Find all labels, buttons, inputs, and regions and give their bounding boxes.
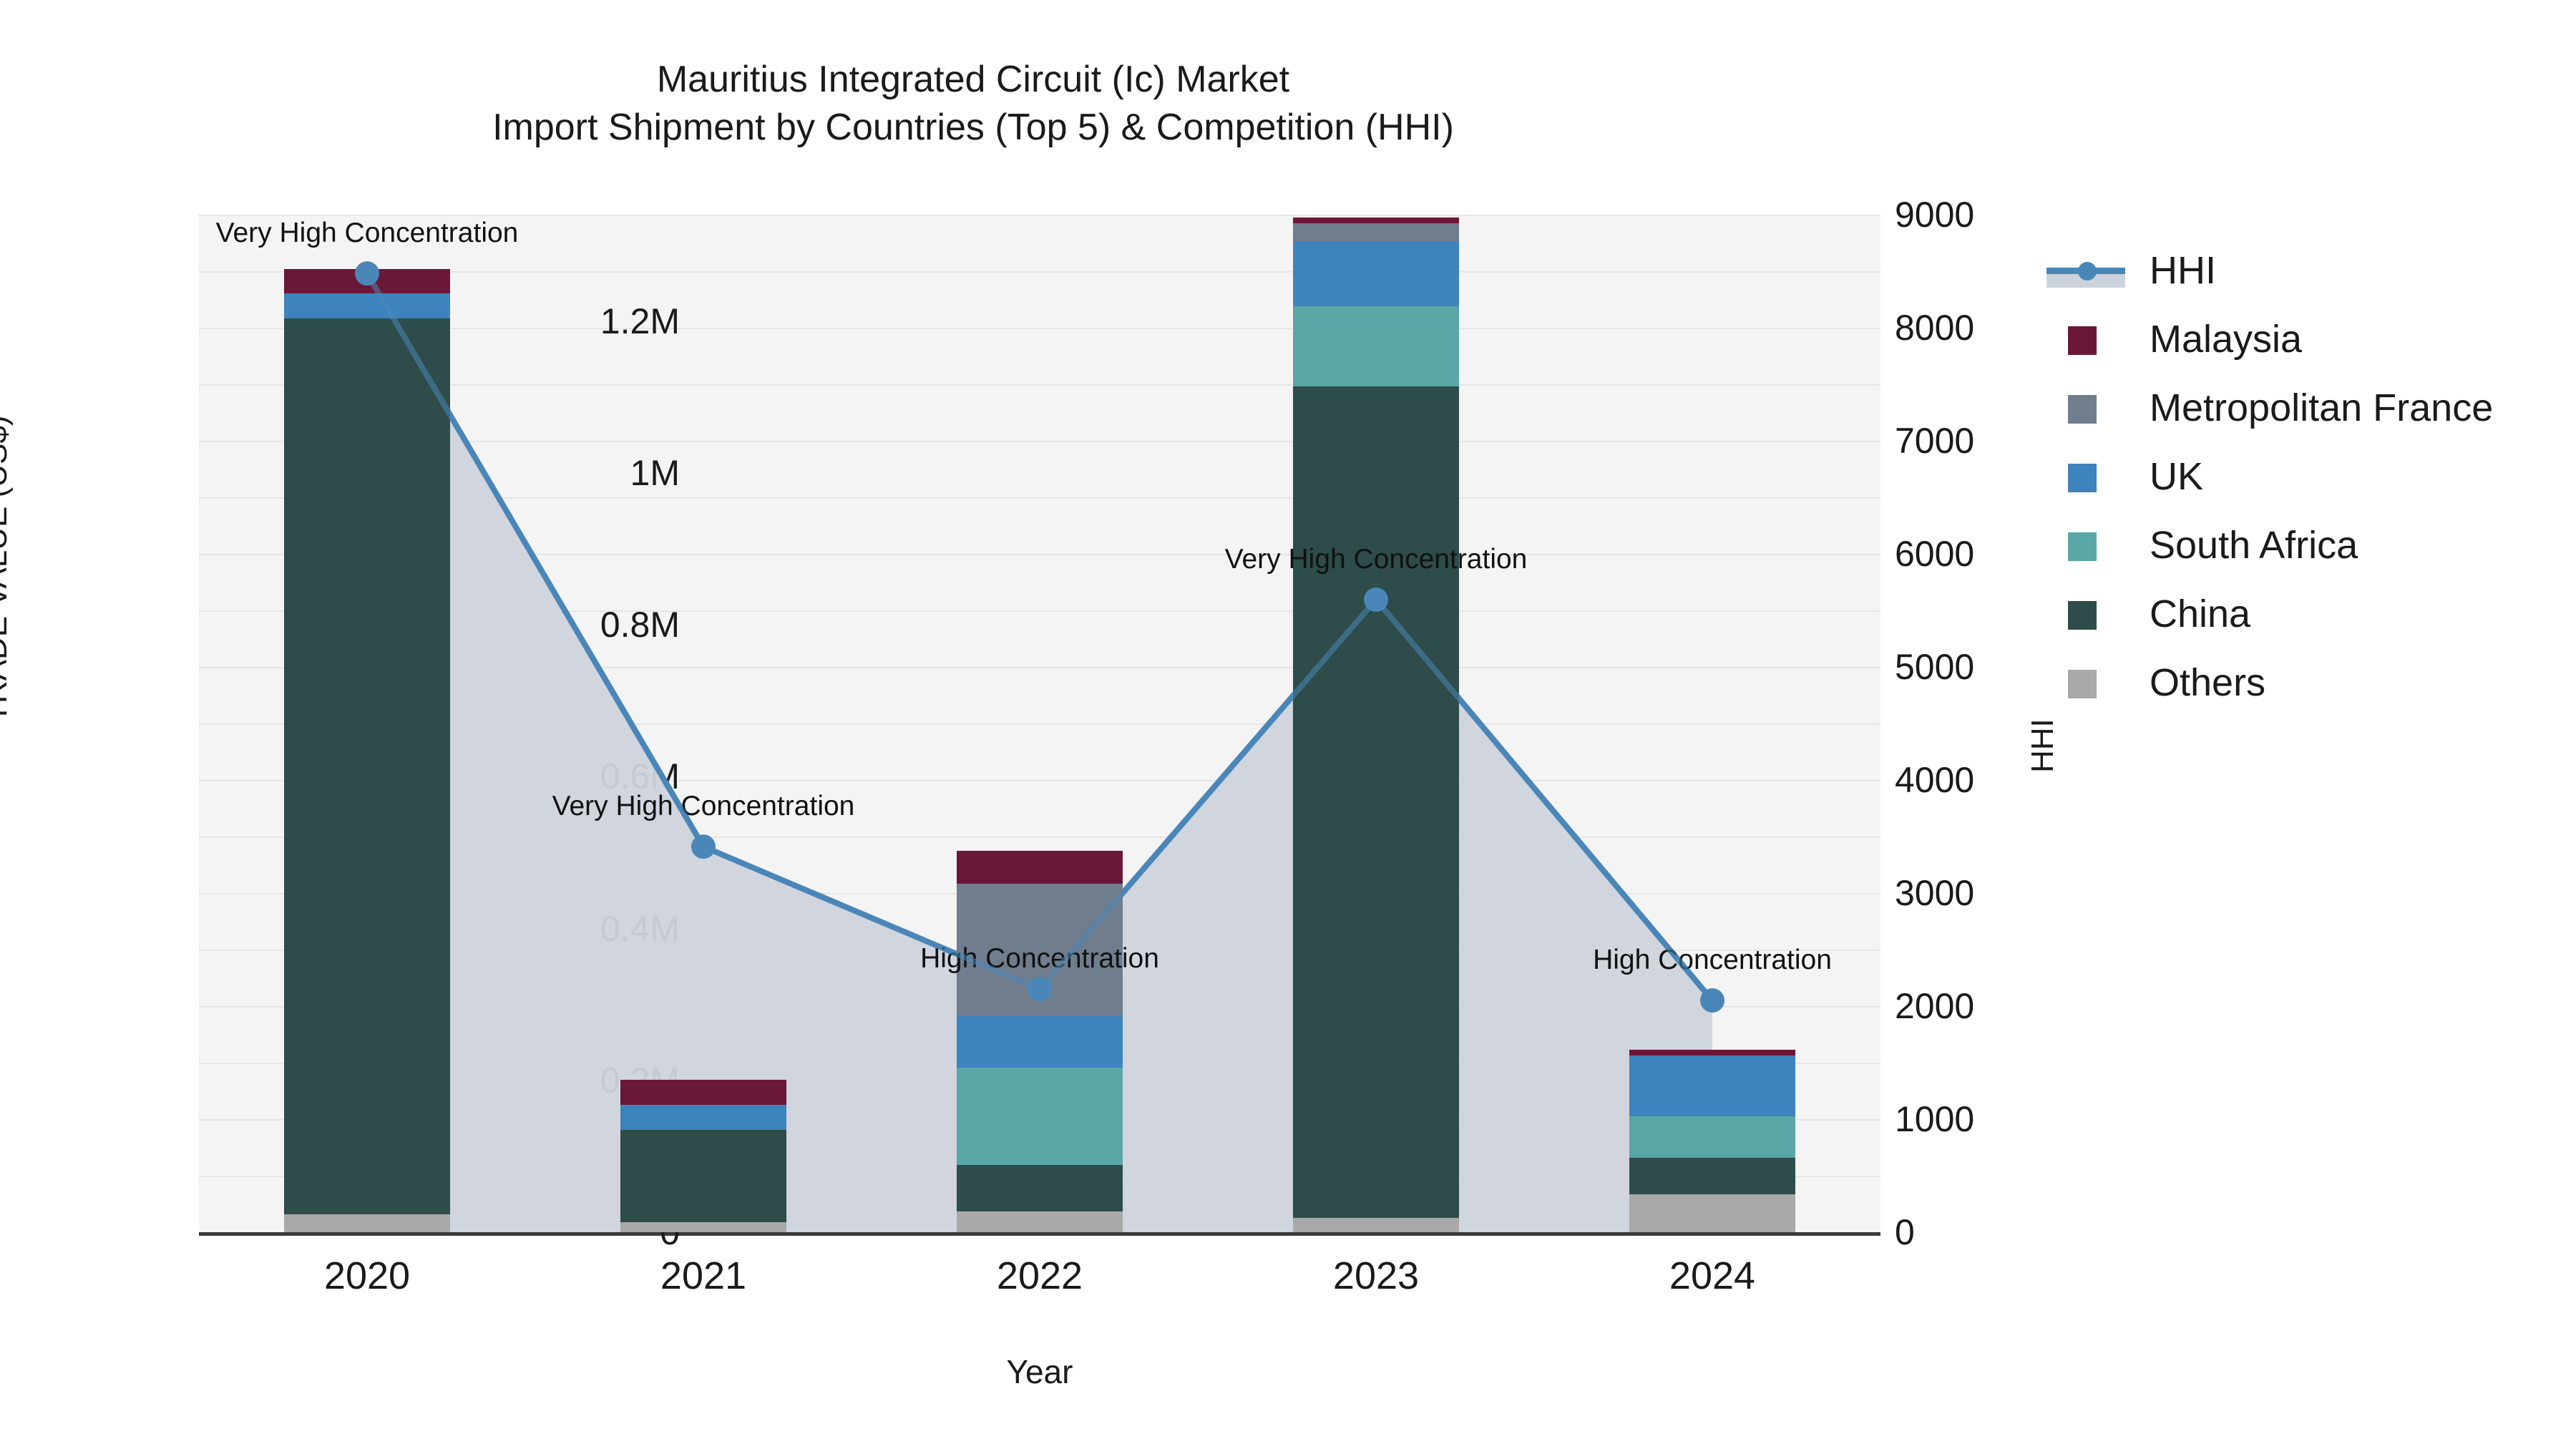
- legend-line-icon: [2046, 250, 2131, 291]
- legend-item[interactable]: UK: [2046, 442, 2562, 511]
- hhi-marker: [691, 834, 716, 859]
- legend-label: UK: [2150, 454, 2203, 499]
- y-axis-right-tick: 2000: [1895, 985, 2181, 1027]
- chart-figure: Mauritius Integrated Circuit (Ic) Market…: [0, 0, 2576, 1449]
- legend-color-swatch: [2068, 326, 2097, 355]
- legend-swatch-icon: [2046, 457, 2131, 497]
- y-axis-right-tick: 1000: [1895, 1098, 2181, 1140]
- hhi-marker: [1364, 587, 1388, 612]
- legend-label: Others: [2150, 660, 2265, 705]
- legend-swatch-icon: [2046, 525, 2131, 565]
- x-axis-label: Year: [199, 1352, 1880, 1391]
- y-axis-right-tick: 9000: [1895, 194, 2181, 235]
- hhi-markers: [199, 215, 1880, 1232]
- legend-color-swatch: [2068, 601, 2097, 630]
- legend-item[interactable]: Metropolitan France: [2046, 374, 2562, 442]
- x-axis-tick: 2024: [1569, 1254, 1855, 1298]
- legend-label: Malaysia: [2150, 317, 2302, 361]
- legend-swatch-icon: [2046, 594, 2131, 634]
- legend-item[interactable]: China: [2046, 580, 2562, 648]
- chart-title-line-2: Import Shipment by Countries (Top 5) & C…: [0, 104, 1946, 152]
- legend-label: South Africa: [2150, 523, 2358, 567]
- x-axis-tick: 2022: [897, 1254, 1183, 1298]
- x-axis-tick: 2023: [1233, 1254, 1519, 1298]
- legend-item[interactable]: HHI: [2046, 236, 2562, 305]
- legend-item[interactable]: South Africa: [2046, 511, 2562, 580]
- x-axis-tick: 2021: [560, 1254, 847, 1298]
- x-axis-tick: 2020: [224, 1254, 510, 1298]
- legend-line-dot: [2078, 262, 2097, 280]
- chart-title: Mauritius Integrated Circuit (Ic) Market…: [0, 56, 1946, 151]
- legend-color-swatch: [2068, 670, 2097, 698]
- legend-color-swatch: [2068, 532, 2097, 561]
- legend-color-swatch: [2068, 464, 2097, 492]
- hhi-marker: [1028, 977, 1052, 1001]
- y-axis-left-label: TRADE VALUE (US$): [0, 416, 14, 723]
- hhi-line-overlay: [367, 273, 1712, 1000]
- legend-item[interactable]: Malaysia: [2046, 305, 2562, 374]
- chart-legend: HHIMalaysiaMetropolitan FranceUKSouth Af…: [2046, 236, 2562, 717]
- chart-title-line-1: Mauritius Integrated Circuit (Ic) Market: [0, 56, 1946, 104]
- hhi-marker: [1700, 988, 1724, 1013]
- legend-item[interactable]: Others: [2046, 648, 2562, 717]
- y-axis-right-label: HHI: [2025, 718, 2061, 773]
- legend-swatch-icon: [2046, 663, 2131, 703]
- legend-label: Metropolitan France: [2150, 386, 2493, 430]
- legend-label: China: [2150, 592, 2250, 636]
- legend-color-swatch: [2068, 395, 2097, 424]
- legend-swatch-icon: [2046, 388, 2131, 428]
- y-axis-right-tick: 3000: [1895, 872, 2181, 914]
- hhi-marker: [355, 261, 379, 286]
- legend-swatch-icon: [2046, 319, 2131, 359]
- y-axis-right-tick: 0: [1895, 1211, 2181, 1253]
- legend-label: HHI: [2150, 248, 2216, 293]
